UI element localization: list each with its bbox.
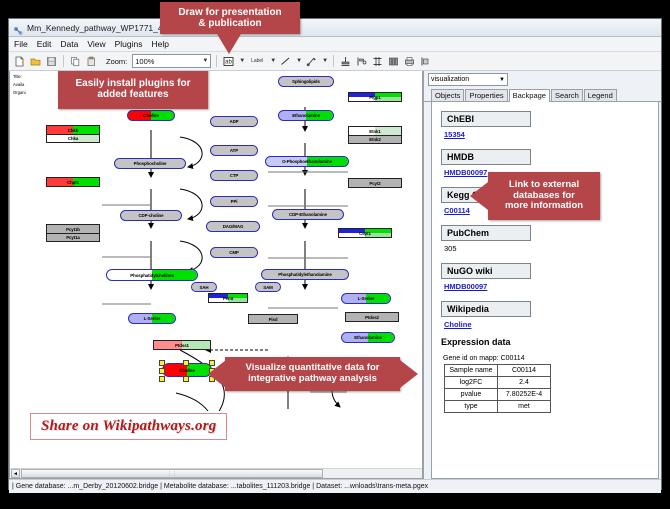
tab-search[interactable]: Search <box>551 89 583 101</box>
cell-value-log2fc: 2.4 <box>498 377 551 389</box>
plugins-callout: Easily install plugins for added feature… <box>58 71 208 109</box>
pathvisio-window: Mm_Kennedy_pathway_WP1771_45176.gpml Fil… <box>8 18 662 490</box>
label-dropdown-chevron-icon[interactable]: ▼ <box>270 58 276 64</box>
share-banner: Share on Wikipathways.org <box>30 413 227 440</box>
node-ethanolamine[interactable]: Ethanolamine <box>278 110 334 121</box>
tab-properties[interactable]: Properties <box>465 89 507 101</box>
node-phosphocholine[interactable]: Phosphocholine <box>114 158 186 169</box>
toolbar: Zoom: 100% ▼ ab ▼ Label ▼ ▼ ▼ <box>9 52 661 71</box>
gene-id-line: Gene id on mapp: C00114 <box>443 355 658 362</box>
align-vertical-icon[interactable] <box>371 55 384 68</box>
side-panel-tabs: Objects Properties Backpage Search Legen… <box>424 88 661 102</box>
table-row: log2FC 2.4 <box>445 377 551 389</box>
table-row: type met <box>445 401 551 413</box>
print-icon[interactable] <box>403 55 416 68</box>
menu-item-plugins[interactable]: Plugins <box>115 39 143 49</box>
toolbar-separator-3 <box>333 55 334 67</box>
node-phosphatidylethanolamine[interactable]: Phosphatidylethanolamine <box>261 269 349 280</box>
cell-value-type: met <box>498 401 551 413</box>
canvas-title-label-1: Availa <box>13 82 24 87</box>
node-sah[interactable]: SAH <box>191 282 217 292</box>
db-header-wikipedia: Wikipedia <box>441 301 531 317</box>
node-l-serine-left[interactable]: L-Serine <box>128 313 176 324</box>
new-file-icon[interactable] <box>13 55 26 68</box>
menu-item-edit[interactable]: Edit <box>37 39 52 49</box>
chevron-down-icon: ▼ <box>202 58 208 64</box>
node-ctp[interactable]: CTP <box>210 170 258 181</box>
label-dropdown[interactable]: Label <box>248 55 266 68</box>
text-label-dropdown-icon[interactable]: ▼ <box>239 58 245 64</box>
status-bar: | Gene database: ...m_Derby_20120602.bri… <box>9 479 661 493</box>
cell-label-type: type <box>445 401 498 413</box>
backpage-content: ChEBI 15354 HMDB HMDB00097 Kegg Compound… <box>431 102 659 479</box>
tab-objects[interactable]: Objects <box>431 89 464 101</box>
node-ethanolamine-right[interactable]: Ethanolamine <box>341 332 395 343</box>
node-phosphatidylcholines[interactable]: Phosphatidylcholines <box>106 269 198 281</box>
canvas-scroll-thumb[interactable]: ⋮⋮ <box>21 469 323 478</box>
selection-handle-tc[interactable] <box>183 360 189 366</box>
node-adp[interactable]: ADP <box>210 116 258 127</box>
line-dropdown-icon[interactable]: ▼ <box>296 58 302 64</box>
line-icon[interactable] <box>279 55 292 68</box>
expression-data-table: Sample name C00114 log2FC 2.4 pvalue 7.8… <box>444 364 551 413</box>
node-pcyt2[interactable]: Pcyt2 <box>348 178 402 188</box>
distribute-icon[interactable] <box>387 55 400 68</box>
tab-legend[interactable]: Legend <box>584 89 617 101</box>
side-panel: visualization ▼ Objects Properties Backp… <box>423 71 661 479</box>
text-label-icon[interactable]: ab <box>222 55 235 68</box>
visualization-combo[interactable]: visualization ▼ <box>428 73 508 86</box>
selection-handle-bc[interactable] <box>183 376 189 382</box>
cell-value-sample-name: C00114 <box>498 365 551 377</box>
node-o-phosphoethanolamine[interactable]: O-Phosphoethanolamine <box>265 156 349 167</box>
node-cdp-ethanolamine[interactable]: CDP-Ethanolamine <box>272 209 344 220</box>
db-header-hmdb: HMDB <box>441 149 531 165</box>
node-etnk1[interactable]: Etnk1 <box>348 126 402 135</box>
pathway-drawing[interactable]: Title: Availa Organi Sphingolipids Ethan… <box>10 71 422 478</box>
canvas-title-label-2: Organi <box>13 90 26 95</box>
menu-item-file[interactable]: File <box>14 39 28 49</box>
node-pemt[interactable]: Pemt <box>208 293 248 303</box>
node-ptdss2[interactable]: Ptdss2 <box>345 312 399 322</box>
node-l-serine-right[interactable]: L-Serine <box>341 293 391 304</box>
align-center-icon[interactable] <box>339 55 352 68</box>
db-value-pubchem: 305 <box>444 244 658 253</box>
node-sphingolipids[interactable]: Sphingolipids <box>278 76 334 87</box>
open-folder-icon[interactable] <box>29 55 42 68</box>
db-link-nugowiki[interactable]: HMDB00097 <box>444 282 658 291</box>
node-dag-mag[interactable]: DAG/MAG <box>206 221 260 232</box>
zoom-combo[interactable]: 100% ▼ <box>132 54 211 68</box>
zoom-value: 100% <box>135 57 154 66</box>
align-left-icon[interactable] <box>355 55 368 68</box>
toolbar-separator-1 <box>63 55 64 67</box>
toolbar-separator-2 <box>216 55 217 67</box>
node-chkb[interactable]: Chkb <box>46 125 100 134</box>
node-pcyt1a[interactable]: Pcyt1a <box>46 233 100 242</box>
menu-bar: File Edit Data View Plugins Help <box>9 37 661 52</box>
node-ppi[interactable]: PPi <box>210 196 258 207</box>
menu-item-view[interactable]: View <box>87 39 105 49</box>
tab-backpage[interactable]: Backpage <box>509 89 550 102</box>
node-pisd[interactable]: Pisd <box>248 314 298 324</box>
table-row: pvalue 7.80252E-4 <box>445 389 551 401</box>
save-icon[interactable] <box>45 55 58 68</box>
node-etnk2[interactable]: Etnk2 <box>348 135 402 144</box>
canvas-title-label-0: Title: <box>13 74 22 79</box>
title-bar: Mm_Kennedy_pathway_WP1771_45176.gpml <box>9 19 661 37</box>
scroll-left-arrow-icon[interactable]: ◄ <box>11 469 20 478</box>
pathvisio-icon <box>13 23 23 33</box>
cell-label-sample-name: Sample name <box>445 365 498 377</box>
copy-icon[interactable] <box>69 55 82 68</box>
table-row: Sample name C00114 <box>445 365 551 377</box>
node-cept1[interactable]: Cept1 <box>338 228 392 238</box>
svg-text:ab: ab <box>225 59 232 65</box>
paste-icon[interactable] <box>85 55 98 68</box>
selection-handle-bl[interactable] <box>159 376 165 382</box>
menu-item-data[interactable]: Data <box>60 39 78 49</box>
main-body: Title: Availa Organi Sphingolipids Ethan… <box>9 71 661 479</box>
selection-handle-tl[interactable] <box>159 360 165 366</box>
expression-data-heading: Expression data <box>441 337 658 347</box>
node-cdp-choline[interactable]: CDP-choline <box>120 210 182 221</box>
pathway-canvas[interactable]: Title: Availa Organi Sphingolipids Ethan… <box>9 71 423 479</box>
visualization-combo-value: visualization <box>431 76 469 83</box>
cell-label-pvalue: pvalue <box>445 389 498 401</box>
db-link-wikipedia[interactable]: Choline <box>444 320 658 329</box>
node-sam[interactable]: SAM <box>255 282 281 292</box>
line-style-icon[interactable] <box>305 55 318 68</box>
node-pigp1[interactable]: Pigp1 <box>348 92 402 102</box>
zoom-label: Zoom: <box>106 57 127 66</box>
node-cmp[interactable]: CMP <box>210 247 258 258</box>
status-text: | Gene database: ...m_Derby_20120602.bri… <box>12 483 428 490</box>
node-atp[interactable]: ATP <box>210 145 258 156</box>
db-link-chebi[interactable]: 15354 <box>444 130 658 139</box>
link-callout: Link to external databases for more info… <box>488 172 600 220</box>
cell-label-log2fc: log2FC <box>445 377 498 389</box>
cell-value-pvalue: 7.80252E-4 <box>498 389 551 401</box>
node-pcyt1b[interactable]: Pcyt1b <box>46 224 100 233</box>
db-header-chebi: ChEBI <box>441 111 531 127</box>
menu-item-help[interactable]: Help <box>152 39 169 49</box>
canvas-hscrollbar[interactable]: ◄ ⋮⋮ <box>10 468 422 478</box>
draw-callout: Draw for presentation & publication <box>160 2 300 34</box>
line-style-dropdown-icon[interactable]: ▼ <box>322 58 328 64</box>
db-header-nugowiki: NuGO wiki <box>441 263 531 279</box>
node-ptdss1[interactable]: Ptdss1 <box>153 340 211 350</box>
visualize-callout: Visualize quantitative data for integrat… <box>225 357 400 391</box>
selection-handle-ml[interactable] <box>159 368 165 374</box>
node-chpt1[interactable]: Chpt1 <box>46 177 100 187</box>
bring-front-icon[interactable] <box>419 55 432 68</box>
node-chka[interactable]: Chka <box>46 134 100 143</box>
db-header-pubchem: PubChem <box>441 225 531 241</box>
node-choline-top[interactable]: Choline <box>127 110 175 121</box>
chevron-down-icon: ▼ <box>499 77 505 83</box>
